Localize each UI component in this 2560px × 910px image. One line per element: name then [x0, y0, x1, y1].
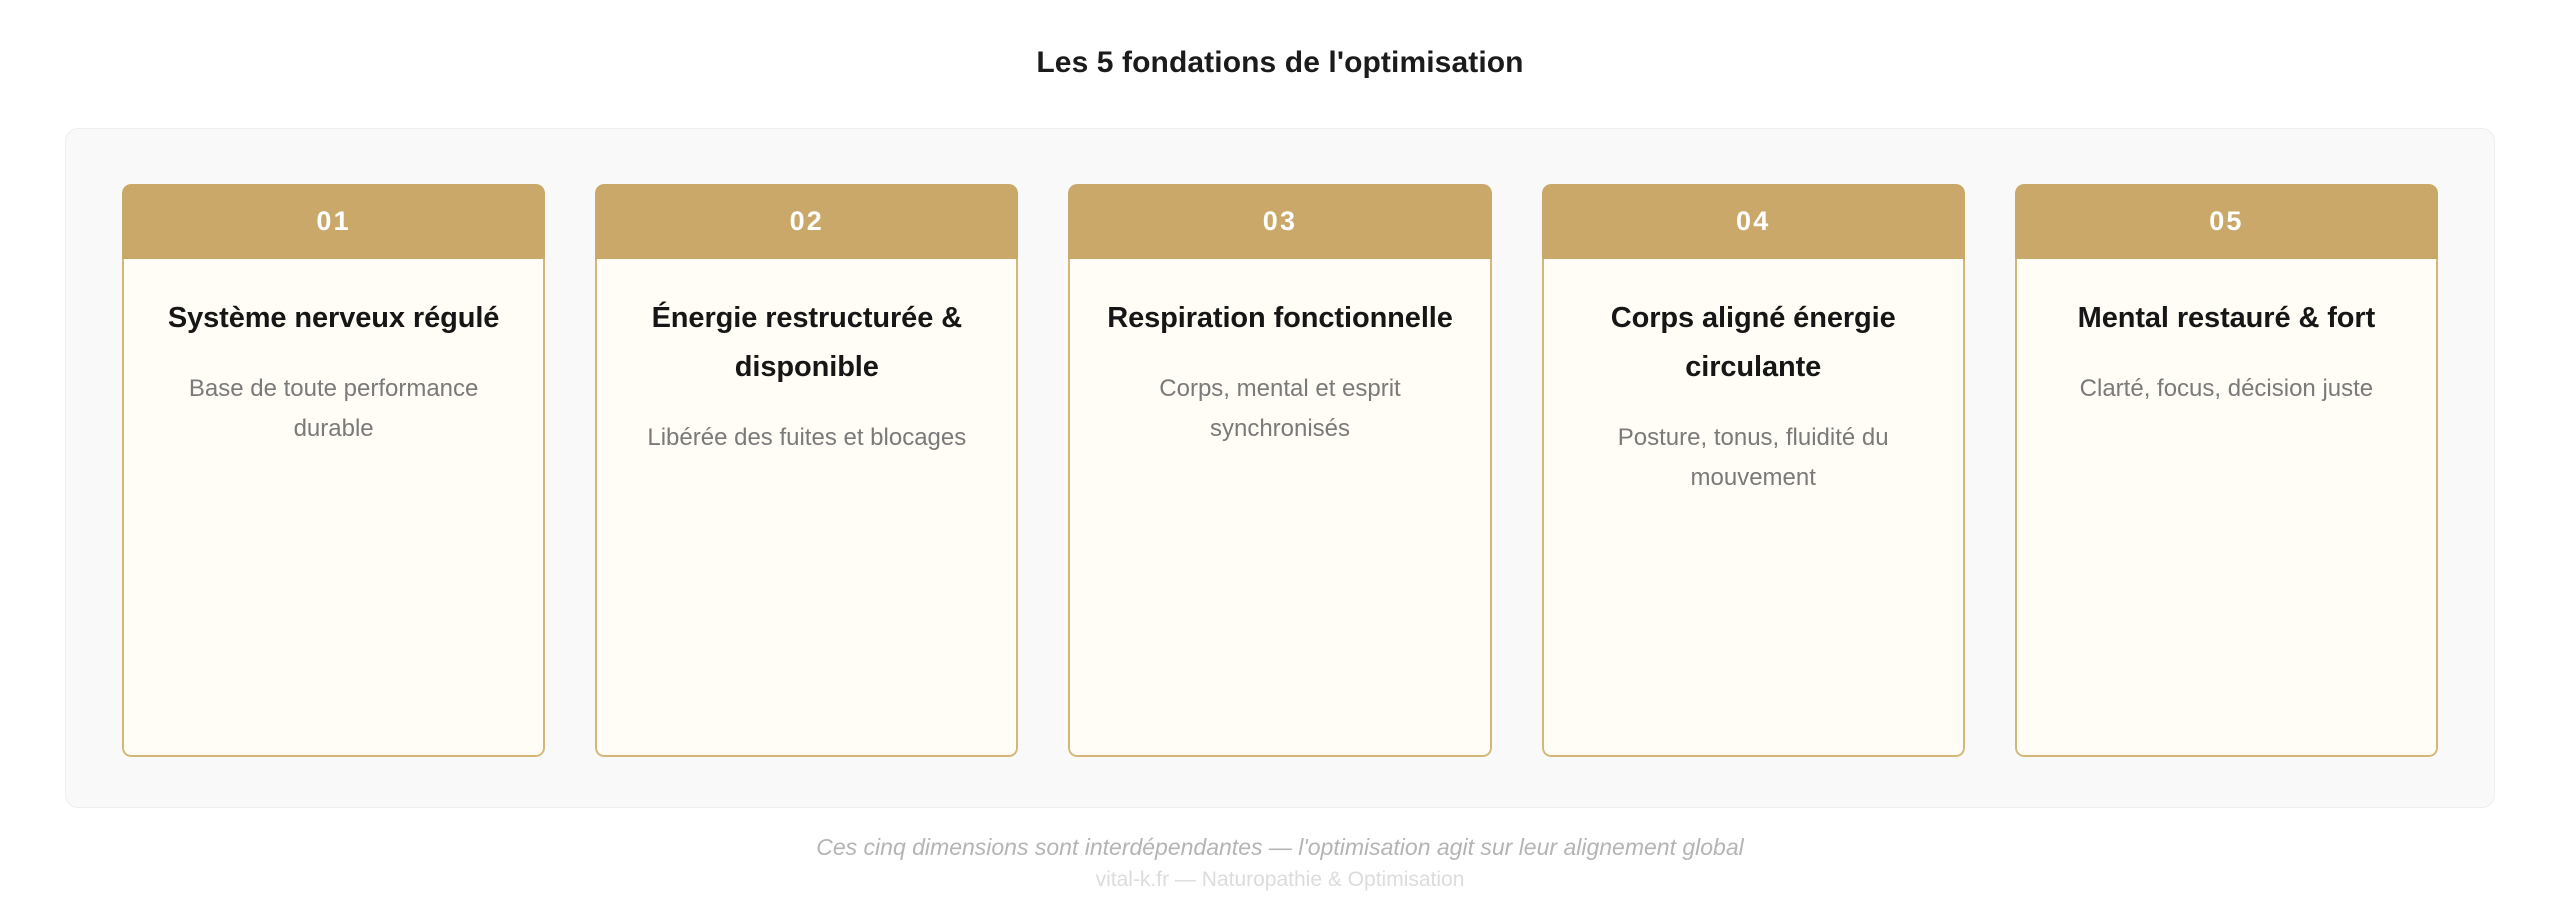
foundation-card-number: 04: [1736, 208, 1770, 235]
foundation-card-body: Énergie restructurée & disponible Libéré…: [595, 259, 1018, 757]
foundation-card-title: Respiration fonctionnelle: [1092, 294, 1467, 343]
footer-credit: vital-k.fr — Naturopathie & Optimisation: [0, 865, 2560, 895]
foundation-card-number: 01: [316, 208, 350, 235]
foundation-card[interactable]: 01 Système nerveux régulé Base de toute …: [122, 184, 545, 757]
foundation-card-title: Mental restauré & fort: [2039, 294, 2414, 343]
infographic-page: Les 5 fondations de l'optimisation 01 Sy…: [0, 0, 2560, 910]
foundation-card-body: Corps aligné énergie circulante Posture,…: [1542, 259, 1965, 757]
foundation-card[interactable]: 05 Mental restauré & fort Clarté, focus,…: [2015, 184, 2438, 757]
page-title: Les 5 fondations de l'optimisation: [0, 0, 2560, 81]
foundation-card-header: 04: [1542, 184, 1965, 259]
foundation-card-body: Système nerveux régulé Base de toute per…: [122, 259, 545, 757]
foundation-card-number: 02: [790, 208, 824, 235]
foundation-card-number: 03: [1263, 208, 1297, 235]
foundation-card-header: 03: [1068, 184, 1491, 259]
foundation-card-title: Énergie restructurée & disponible: [619, 294, 994, 392]
footer-note: Ces cinq dimensions sont interdépendante…: [0, 832, 2560, 862]
foundation-card-description: Corps, mental et esprit synchronisés: [1092, 369, 1467, 449]
footer: Ces cinq dimensions sont interdépendante…: [0, 832, 2560, 895]
foundation-card-header: 02: [595, 184, 1018, 259]
foundation-card-description: Base de toute performance durable: [146, 369, 521, 449]
foundation-card-header: 01: [122, 184, 545, 259]
foundation-card-number: 05: [2209, 208, 2243, 235]
foundation-card[interactable]: 03 Respiration fonctionnelle Corps, ment…: [1068, 184, 1491, 757]
foundation-card-description: Posture, tonus, fluidité du mouvement: [1566, 418, 1941, 498]
foundation-card-title: Corps aligné énergie circulante: [1566, 294, 1941, 392]
foundation-card-body: Respiration fonctionnelle Corps, mental …: [1068, 259, 1491, 757]
foundation-card-description: Clarté, focus, décision juste: [2039, 369, 2414, 409]
foundation-card-description: Libérée des fuites et blocages: [619, 418, 994, 458]
foundation-card[interactable]: 04 Corps aligné énergie circulante Postu…: [1542, 184, 1965, 757]
foundation-card-title: Système nerveux régulé: [146, 294, 521, 343]
foundations-panel: 01 Système nerveux régulé Base de toute …: [65, 128, 2495, 808]
foundation-card-header: 05: [2015, 184, 2438, 259]
foundation-card[interactable]: 02 Énergie restructurée & disponible Lib…: [595, 184, 1018, 757]
foundation-card-body: Mental restauré & fort Clarté, focus, dé…: [2015, 259, 2438, 757]
foundations-card-row: 01 Système nerveux régulé Base de toute …: [122, 184, 2438, 807]
